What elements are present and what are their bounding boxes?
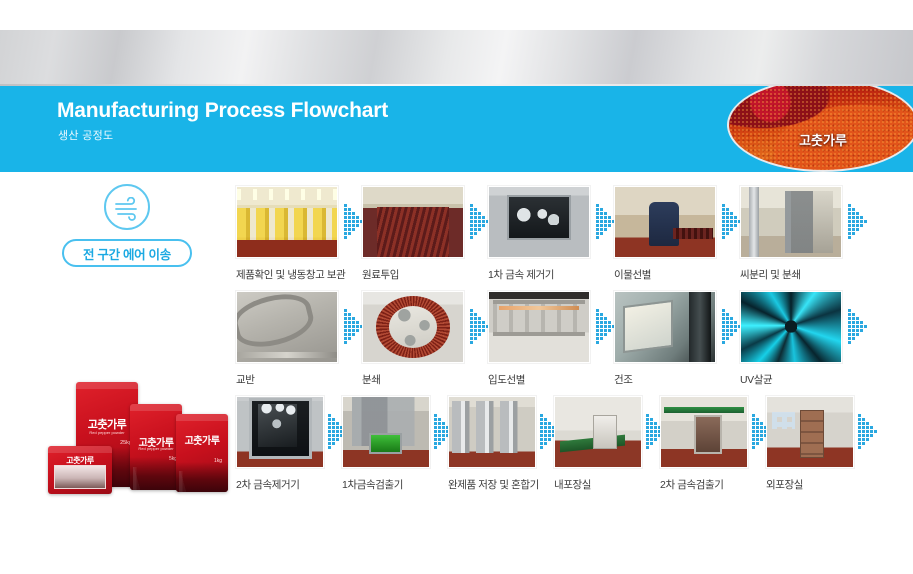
metallic-banner-strip bbox=[0, 30, 913, 86]
process-step-photo bbox=[236, 186, 338, 258]
photo-inpack bbox=[555, 397, 641, 467]
process-step[interactable]: 외포장실 bbox=[766, 396, 854, 492]
process-step-label: 제품확인 및 냉동창고 보관 bbox=[236, 267, 345, 282]
process-step-label: 씨분리 및 분쇄 bbox=[740, 267, 842, 282]
package-artwork bbox=[176, 462, 228, 492]
package-window-photo bbox=[54, 465, 106, 489]
photo-mix bbox=[237, 292, 337, 362]
process-step-photo bbox=[660, 396, 748, 468]
process-step[interactable]: 1차 금속 제거기 bbox=[488, 186, 590, 282]
process-step-label: 교반 bbox=[236, 372, 338, 387]
process-step-photo bbox=[766, 396, 854, 468]
package-right: 고춧가루 1kg bbox=[176, 414, 228, 492]
product-badge-label: 고춧가루 bbox=[729, 130, 913, 149]
photo-size bbox=[489, 292, 589, 362]
process-step-photo bbox=[614, 291, 716, 363]
process-step-label: 건조 bbox=[614, 372, 716, 387]
process-step-photo bbox=[554, 396, 642, 468]
page-subtitle: 생산 공정도 bbox=[58, 127, 113, 143]
process-step-label: 완제품 저장 및 혼합기 bbox=[448, 477, 539, 492]
package-mid: 고춧가루 Red pepper powder 5kg bbox=[130, 404, 182, 490]
photo-tank bbox=[449, 397, 535, 467]
photo-pulv bbox=[363, 292, 463, 362]
process-step-photo bbox=[362, 186, 464, 258]
package-right-label: 고춧가루 bbox=[176, 432, 228, 447]
photo-dry bbox=[615, 292, 715, 362]
process-step-label: 1차 금속 제거기 bbox=[488, 267, 590, 282]
process-step-photo bbox=[488, 186, 590, 258]
process-step-label: 원료투입 bbox=[362, 267, 464, 282]
process-step[interactable]: 제품확인 및 냉동창고 보관 bbox=[236, 186, 345, 282]
process-step[interactable]: 1차금속검출기 bbox=[342, 396, 430, 492]
package-large-sub: Red pepper powder bbox=[76, 430, 138, 435]
process-step[interactable]: 교반 bbox=[236, 291, 338, 387]
process-step-photo bbox=[740, 186, 842, 258]
process-step[interactable]: 입도선별 bbox=[488, 291, 590, 387]
process-step-photo bbox=[740, 291, 842, 363]
chili-powder-texture bbox=[729, 86, 913, 170]
photo-det2 bbox=[661, 397, 747, 467]
photo-outpack bbox=[767, 397, 853, 467]
page-title: Manufacturing Process Flowchart bbox=[57, 99, 388, 123]
package-mid-sub: Red pepper powder bbox=[130, 446, 182, 451]
process-step[interactable]: 원료투입 bbox=[362, 186, 464, 282]
photo-metal1 bbox=[489, 187, 589, 257]
product-package-group: 고춧가루 Red pepper powder 25kg 고춧가루 Red pep… bbox=[48, 382, 228, 502]
photo-det1 bbox=[343, 397, 429, 467]
package-top-band bbox=[130, 404, 182, 411]
process-step-photo bbox=[236, 396, 324, 468]
package-top-band bbox=[76, 382, 138, 389]
product-badge: 고춧가루 bbox=[727, 86, 913, 172]
process-step[interactable]: 분쇄 bbox=[362, 291, 464, 387]
wind-icon bbox=[104, 184, 150, 230]
process-step-label: 1차금속검출기 bbox=[342, 477, 430, 492]
photo-grind bbox=[741, 187, 841, 257]
process-step[interactable]: 이물선별 bbox=[614, 186, 716, 282]
process-step-label: 분쇄 bbox=[362, 372, 464, 387]
process-step-photo bbox=[362, 291, 464, 363]
process-step-photo bbox=[448, 396, 536, 468]
process-step-photo bbox=[236, 291, 338, 363]
air-transport-label: 전 구간 에어 이송 bbox=[62, 239, 192, 267]
process-step-label: 입도선별 bbox=[488, 372, 590, 387]
process-step-photo bbox=[342, 396, 430, 468]
process-step[interactable]: 2차 금속검출기 bbox=[660, 396, 748, 492]
process-step-label: 2차 금속제거기 bbox=[236, 477, 324, 492]
process-step[interactable]: UV살균 bbox=[740, 291, 842, 387]
page-top-margin bbox=[0, 0, 913, 30]
process-step-label: 내포장실 bbox=[554, 477, 642, 492]
package-artwork bbox=[130, 457, 182, 490]
process-step[interactable]: 2차 금속제거기 bbox=[236, 396, 324, 492]
process-step[interactable]: 내포장실 bbox=[554, 396, 642, 492]
process-step[interactable]: 완제품 저장 및 혼합기 bbox=[448, 396, 539, 492]
photo-sort bbox=[615, 187, 715, 257]
process-step-label: 이물선별 bbox=[614, 267, 716, 282]
photo-uv bbox=[741, 292, 841, 362]
package-top-band bbox=[48, 446, 112, 453]
package-top-band bbox=[176, 414, 228, 421]
process-step-photo bbox=[488, 291, 590, 363]
package-small: 고춧가루 bbox=[48, 446, 112, 494]
process-step-label: UV살균 bbox=[740, 372, 842, 387]
photo-metal2 bbox=[237, 397, 323, 467]
process-step-label: 2차 금속검출기 bbox=[660, 477, 748, 492]
process-step-label: 외포장실 bbox=[766, 477, 854, 492]
process-step[interactable]: 씨분리 및 분쇄 bbox=[740, 186, 842, 282]
photo-storage bbox=[237, 187, 337, 257]
air-transport-callout: 전 구간 에어 이송 bbox=[62, 184, 192, 267]
process-step[interactable]: 건조 bbox=[614, 291, 716, 387]
photo-input bbox=[363, 187, 463, 257]
process-step-photo bbox=[614, 186, 716, 258]
page-header: Manufacturing Process Flowchart 생산 공정도 고… bbox=[0, 86, 913, 172]
